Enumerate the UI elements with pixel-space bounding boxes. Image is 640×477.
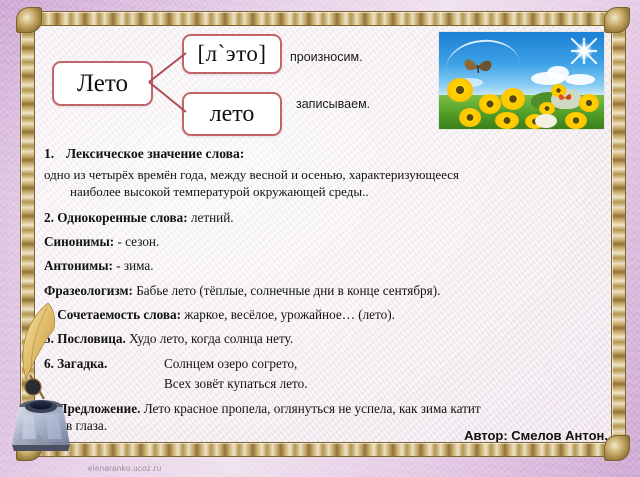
antonyms-label: Антонимы: (44, 258, 113, 273)
item4-value: жаркое, весёлое, урожайное… (лето). (184, 307, 395, 322)
cloud-shape (565, 74, 595, 85)
flower-shape (447, 78, 473, 102)
item7-line1: Лето красное пропела, оглянуться не успе… (144, 401, 481, 416)
item1-heading: Лексическое значение слова: (66, 146, 244, 161)
item2-row: 2. Однокоренные слова: летний. (44, 210, 608, 225)
item2-label: 2. Однокоренные слова: (44, 210, 188, 225)
item1-definition-line2: наиболее высокой температурой окружающей… (44, 184, 608, 201)
flower-shape (495, 112, 519, 129)
flower-shape (459, 108, 481, 127)
butterfly-icon (557, 90, 573, 104)
item5-value: Худо лето, когда солнца нету. (129, 331, 293, 346)
idiom-row: Фразеологизм: Бабье лето (тёплые, солнеч… (44, 283, 608, 298)
word-box: Лето (52, 61, 153, 106)
item1-definition-line1: одно из четырёх времён года, между весно… (44, 167, 459, 182)
item6-row: 6. Загадка. Солнцем озеро согрето, (44, 356, 608, 372)
watermark-text: elenaranko.ucoz.ru (88, 464, 161, 473)
flower-shape (479, 94, 501, 114)
synonyms-row: Синонимы: - сезон. (44, 234, 608, 249)
pronounce-label: произносим. (290, 50, 363, 64)
flower-shape (501, 88, 525, 110)
item2-value: летний. (191, 210, 234, 225)
lesson-content: 1.Лексическое значение слова: одно из че… (44, 146, 608, 434)
item1-definition: одно из четырёх времён года, между весно… (44, 167, 608, 201)
item6-line1: Солнцем озеро согрето, (164, 356, 297, 372)
quill-and-inkwell-icon (4, 295, 78, 455)
white-flower-shape (535, 114, 557, 128)
item1-number: 1. (44, 146, 66, 162)
spelling-box: лето (182, 92, 282, 136)
slide-canvas: Лето [л`это] лето произносим. записываем… (0, 0, 640, 477)
synonyms-label: Синонимы: (44, 234, 114, 249)
item4-row: 4. Сочетаемость слова: жаркое, весёлое, … (44, 307, 608, 322)
author-credit: Автор: Смелов Антон. (464, 428, 608, 443)
antonyms-value: - зима. (116, 258, 153, 273)
antonyms-row: Антонимы: - зима. (44, 258, 608, 273)
flower-shape (565, 112, 587, 129)
idiom-value: Бабье лето (тёплые, солнечные дни в конц… (136, 283, 440, 298)
flower-shape (579, 94, 599, 112)
transcription-box: [л`это] (182, 34, 282, 74)
word-diagram: Лето [л`это] лето (52, 32, 302, 140)
sun-star-icon (571, 38, 597, 64)
diagram-connector-lines (148, 32, 188, 140)
item1-heading-row: 1.Лексическое значение слова: (44, 146, 608, 162)
synonyms-value: - сезон. (117, 234, 159, 249)
item6-line2: Всех зовёт купаться лето. (44, 376, 608, 392)
butterfly-icon (461, 54, 495, 78)
write-label: записываем. (296, 97, 370, 111)
summer-meadow-photo (438, 31, 605, 130)
item5-row: 5. Пословица. Худо лето, когда солнца не… (44, 331, 608, 346)
